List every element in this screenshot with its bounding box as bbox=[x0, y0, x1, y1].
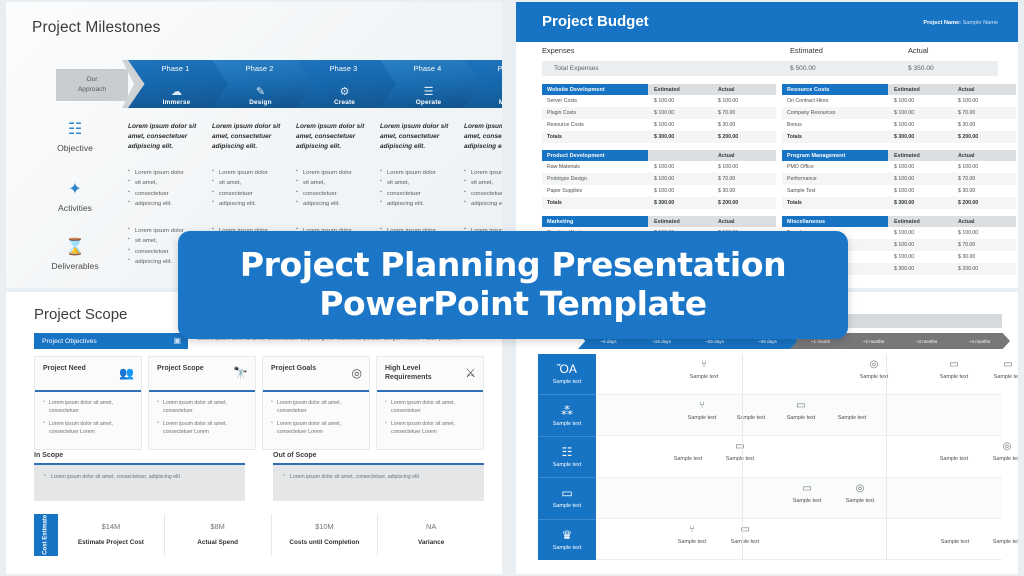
cell-item: Totals bbox=[542, 131, 648, 143]
list-item: Lorem ipsum dolor sit amet, consectetuer… bbox=[271, 420, 361, 437]
phase-chevron-row: Our Approach Phase 1 ☁ Immerse Phase 2 ✎… bbox=[56, 60, 488, 108]
budget-table-website-development[interactable]: Website DevelopmentEstimatedActualServer… bbox=[542, 84, 776, 143]
laptop-icon: ▭ bbox=[717, 525, 773, 535]
phase-name: Create bbox=[296, 99, 393, 106]
table-row: Performance$ 100.00$ 70.00 bbox=[782, 173, 1016, 185]
roadmap-cell-label: Sample text bbox=[846, 374, 902, 380]
cell-item: PMO Office bbox=[782, 161, 888, 173]
list-item: consectetuer bbox=[128, 189, 200, 199]
scope-card-project-goals[interactable]: Project Goals ◎ Lorem ipsum dolor sit am… bbox=[262, 356, 370, 450]
roadmap-cell-label: Sample text bbox=[660, 456, 716, 462]
cell-item: Performance bbox=[782, 173, 888, 185]
table-header-row: Program ManagementEstimatedActual bbox=[782, 150, 1016, 161]
table-row: Bonus$ 100.00$ 30.00 bbox=[782, 119, 1016, 131]
table-col-actual: Actual bbox=[952, 84, 1016, 95]
cell-actual: $ 70.00 bbox=[712, 107, 776, 119]
card-bullets: Lorem ipsum dolor sit amet, consectetuer… bbox=[35, 392, 141, 449]
cell-item: Totals bbox=[782, 131, 888, 143]
roadmap-sidebar-label: Sample text bbox=[553, 379, 581, 385]
flowchart-icon: ⑂ bbox=[676, 360, 732, 370]
table-category-label: Miscellaneous bbox=[782, 216, 888, 227]
cost-tag-line-1: Cost bbox=[42, 542, 48, 555]
roadmap-cell-label: Sample text bbox=[717, 539, 773, 545]
approach-line-1: Our bbox=[87, 75, 98, 85]
table-header-row: Website DevelopmentEstimatedActual bbox=[542, 84, 776, 95]
target-icon: ◎ bbox=[846, 360, 902, 370]
page-title: Project Scope bbox=[34, 306, 127, 323]
roadmap-cell-label: Sample text bbox=[779, 498, 835, 504]
row-label-deliverables: ⌛ Deliverables bbox=[44, 240, 106, 271]
table-header-row: Resource CostsEstimatedActual bbox=[782, 84, 1016, 95]
cell-estimated: $ 100.00 bbox=[888, 239, 952, 251]
activities-bullets: Lorem ipsum dolorsit amet,consectetuerad… bbox=[464, 168, 502, 209]
roadmap-cell-label: Sample text bbox=[926, 374, 982, 380]
cell-estimated: $ 100.00 bbox=[888, 173, 952, 185]
cell-estimated: $ 100.00 bbox=[648, 173, 712, 185]
out-of-scope-heading: Out of Scope bbox=[273, 452, 484, 463]
cell-actual: $ 70.00 bbox=[712, 173, 776, 185]
table-col-actual: Actual bbox=[712, 150, 776, 161]
card-title: Project Need bbox=[43, 364, 106, 373]
total-label: Total Expenses bbox=[554, 65, 599, 72]
list-item: Lorem ipsum dolor bbox=[212, 168, 284, 178]
table-col-actual: Actual bbox=[952, 150, 1016, 161]
total-actual: $ 350.00 bbox=[908, 65, 934, 72]
project-name-value: Sample Name bbox=[963, 20, 998, 26]
phase-label: Phase 4 bbox=[380, 64, 475, 73]
hourglass-icon: ⌛ bbox=[44, 240, 106, 256]
roadmap-cell[interactable]: ▭Sample text bbox=[712, 442, 768, 462]
bar-chart-icon: ὌA bbox=[557, 363, 577, 375]
roadmap-row: ⑂Sample text▭Sample textSample textSampl… bbox=[596, 519, 1002, 560]
cost-estimate-tag: Cost Estimate bbox=[34, 514, 58, 556]
objective-text: Lorem ipsum dolor sit amet, consectetuer… bbox=[212, 122, 284, 151]
cell-estimated: $ 100.00 bbox=[648, 95, 712, 107]
table-header-row: Product DevelopmentActual bbox=[542, 150, 776, 161]
roadmap-cell[interactable]: Sample text bbox=[723, 411, 779, 421]
roadmap-column-separator bbox=[742, 354, 743, 560]
cell-item: On Contract Hires bbox=[782, 95, 888, 107]
cell-actual: $ 200.00 bbox=[952, 131, 1016, 143]
roadmap-cell-label: Sample text bbox=[824, 415, 880, 421]
objective-text: Lorem ipsum dolor sit amet, consectetuer… bbox=[464, 122, 502, 151]
list-item: Lorem ipsum dolor bbox=[128, 168, 200, 178]
in-scope-heading: In Scope bbox=[34, 452, 245, 463]
table-row: Plugin Costs$ 100.00$ 70.00 bbox=[542, 107, 776, 119]
table-header-row: MarketingEstimatedActual bbox=[542, 216, 776, 227]
cell-actual: $ 100.00 bbox=[952, 161, 1016, 173]
cell-actual: $ 100.00 bbox=[952, 227, 1016, 239]
cell-estimated: $ 100.00 bbox=[648, 107, 712, 119]
in-scope-block: In Scope Lorem ipsum dolor sit amet, con… bbox=[34, 452, 245, 501]
list-item: consectetuer bbox=[212, 189, 284, 199]
cell-actual: $ 70.00 bbox=[952, 107, 1016, 119]
cell-item: Prototype Design bbox=[542, 173, 648, 185]
cell-item: Bonus bbox=[782, 119, 888, 131]
project-name-field: Project Name: Sample Name bbox=[923, 20, 998, 26]
card-title: Project Scope bbox=[157, 364, 220, 373]
cost-item-costs-until-completion: $10M Costs until Completion bbox=[271, 514, 378, 556]
cost-label: Costs until Completion bbox=[272, 539, 378, 546]
laptop-icon: ▭ bbox=[712, 442, 768, 452]
table-category-label: Marketing bbox=[542, 216, 648, 227]
list-item: sit amet, bbox=[128, 178, 200, 188]
list-item: consectetuer bbox=[464, 189, 502, 199]
cost-estimate-bar: Cost Estimate $14M Estimate Project Cost… bbox=[34, 514, 484, 556]
phase-name: Immerse bbox=[128, 99, 225, 106]
cell-actual: $ 30.00 bbox=[712, 119, 776, 131]
cell-estimated: $ 100.00 bbox=[888, 227, 952, 239]
cell-actual: $ 200.00 bbox=[712, 131, 776, 143]
table-col-actual: Actual bbox=[712, 84, 776, 95]
scope-split-row: In Scope Lorem ipsum dolor sit amet, con… bbox=[34, 452, 484, 501]
table-row: Server Costs$ 100.00$ 100.00 bbox=[542, 95, 776, 107]
list-item: consectetuer bbox=[380, 189, 452, 199]
phase-label: Phase 3 bbox=[296, 64, 391, 73]
table-row: Sample Text$ 100.00$ 30.00 bbox=[782, 185, 1016, 197]
roadmap-sidebar-label: Sample text bbox=[553, 462, 581, 468]
table-row: Totals$ 300.00$ 200.00 bbox=[542, 131, 776, 143]
people-cloud-icon: ☁ bbox=[128, 87, 225, 98]
analytics-icon: ☷ bbox=[562, 446, 573, 458]
cell-actual: $ 100.00 bbox=[712, 161, 776, 173]
budget-header-bar: Project Budget Project Name: Sample Name bbox=[516, 2, 1018, 42]
budget-table-program-management[interactable]: Program ManagementEstimatedActualPMO Off… bbox=[782, 150, 1016, 209]
waveform-icon: ☰ bbox=[380, 87, 477, 98]
phase-name: Operate bbox=[380, 99, 477, 106]
monitor-icon: ▣ bbox=[173, 336, 181, 345]
table-row: Totals$ 300.00$ 200.00 bbox=[542, 197, 776, 209]
pen-design-icon: ✎ bbox=[212, 87, 309, 98]
roadmap-cell[interactable]: Sample text bbox=[824, 411, 880, 421]
roadmap-sidebar-label: Sample text bbox=[553, 421, 581, 427]
list-item: sit amet, bbox=[296, 178, 368, 188]
laptop-icon: ▭ bbox=[779, 484, 835, 494]
star-burst-icon: ✦ bbox=[44, 182, 106, 198]
out-of-scope-block: Out of Scope Lorem ipsum dolor sit amet,… bbox=[273, 452, 484, 501]
list-item: adipiscing elit. bbox=[296, 199, 368, 209]
phase-name: Design bbox=[212, 99, 309, 106]
scope-card-row: Project Need 👥 Lorem ipsum dolor sit ame… bbox=[34, 356, 484, 450]
list-item: Lorem ipsum dolor bbox=[296, 168, 368, 178]
table-row: On Contract Hires$ 100.00$ 100.00 bbox=[782, 95, 1016, 107]
timeline-chevron[interactable]: ~2 months bbox=[843, 333, 904, 349]
roadmap-cell[interactable]: ⑂Sample text bbox=[676, 360, 732, 380]
roadmap-cell-label: Sample text bbox=[980, 374, 1018, 380]
cell-item: Server Costs bbox=[542, 95, 648, 107]
out-of-scope-bullet: Lorem ipsum dolor sit amet, consectetuer… bbox=[283, 474, 474, 480]
col-actual: Actual bbox=[908, 46, 929, 55]
roadmap-cell-label: Sample text bbox=[674, 415, 730, 421]
table-col-estimated: Estimated bbox=[648, 216, 712, 227]
cell-actual: $ 30.00 bbox=[952, 185, 1016, 197]
roadmap-sidebar-label: Sample text bbox=[553, 545, 581, 551]
table-row: Resource Costs$ 100.00$ 30.00 bbox=[542, 119, 776, 131]
roadmap-row: ⑂Sample textSample text▭Sample textSampl… bbox=[596, 395, 1002, 436]
scope-card-high-level-requirements[interactable]: High Level Requirements ⚔ Lorem ipsum do… bbox=[376, 356, 484, 450]
cell-estimated: $ 100.00 bbox=[888, 119, 952, 131]
cell-estimated: $ 100.00 bbox=[888, 107, 952, 119]
cell-estimated: $ 100.00 bbox=[648, 185, 712, 197]
cost-value: $10M bbox=[272, 522, 378, 531]
table-row: Raw Materials$ 100.00$ 100.00 bbox=[542, 161, 776, 173]
roadmap-row: Sample text▭Sample textSample text◎Sampl… bbox=[596, 436, 1002, 477]
roadmap-sidebar: ὌASample text⁂Sample text☷Sample text▭Sa… bbox=[538, 354, 596, 560]
approach-line-2: Approach bbox=[78, 85, 106, 95]
card-bullets: Lorem ipsum dolor sit amet, consectetuer… bbox=[263, 392, 369, 449]
roadmap-cell[interactable]: Sample text bbox=[979, 535, 1018, 545]
col-expenses: Expenses bbox=[542, 46, 574, 55]
cell-estimated: $ 300.00 bbox=[888, 263, 952, 275]
roadmap-cell-label: Sample text bbox=[664, 539, 720, 545]
list-item: Lorem ipsum dolor sit amet, consectetuer… bbox=[43, 420, 133, 437]
roadmap-cell[interactable]: Sample text bbox=[926, 452, 982, 462]
cost-item-actual-spend: $8M Actual Spend bbox=[164, 514, 271, 556]
list-item: consectetuer bbox=[296, 189, 368, 199]
row-label-objective: ☷ Objective bbox=[44, 122, 106, 153]
roadmap-row: ▭Sample text◎Sample text bbox=[596, 478, 1002, 519]
table-header-row: MiscellaneousEstimatedActual bbox=[782, 216, 1016, 227]
roadmap-cell-label: Sample text bbox=[979, 539, 1018, 545]
list-item: Lorem ipsum dolor sit amet, consectetuer bbox=[271, 399, 361, 416]
flowchart-icon: ⑂ bbox=[674, 401, 730, 411]
roadmap-cell[interactable]: ▭Sample text bbox=[717, 525, 773, 545]
roadmap-sidebar-item-0[interactable]: ὌASample text bbox=[538, 354, 596, 395]
roadmap-cell[interactable]: ⑂Sample text bbox=[674, 401, 730, 421]
team-icon: 👥 bbox=[119, 366, 134, 380]
cell-estimated: $ 300.00 bbox=[648, 131, 712, 143]
cell-item: Totals bbox=[542, 197, 648, 209]
table-col-actual: Actual bbox=[712, 216, 776, 227]
table-row: PMO Office$ 100.00$ 100.00 bbox=[782, 161, 1016, 173]
banner-line-1: Project Planning Presentation bbox=[240, 246, 786, 285]
our-approach-box: Our Approach bbox=[56, 69, 128, 101]
cell-actual: $ 30.00 bbox=[952, 251, 1016, 263]
roadmap-cell-label: Sample text bbox=[676, 374, 732, 380]
total-expenses-row: Total Expenses $ 500.00 $ 350.00 bbox=[542, 61, 998, 76]
roadmap-cell-label: Sample text bbox=[926, 456, 982, 462]
cost-value: $8M bbox=[165, 522, 271, 531]
table-category-label: Product Development bbox=[542, 150, 648, 161]
list-item: Lorem ipsum dolor sit amet, consectetuer… bbox=[385, 420, 475, 437]
cell-estimated: $ 300.00 bbox=[648, 197, 712, 209]
cell-estimated: $ 300.00 bbox=[888, 197, 952, 209]
card-title: High Level Requirements bbox=[385, 364, 448, 383]
activities-bullets: Lorem ipsum dolorsit amet,consectetuerad… bbox=[296, 168, 368, 209]
roadmap-sidebar-item-2[interactable]: ☷Sample text bbox=[538, 437, 596, 478]
page-title: Project Milestones bbox=[32, 19, 160, 37]
list-item: Lorem ipsum dolor bbox=[464, 168, 502, 178]
table-col-estimated: Estimated bbox=[888, 216, 952, 227]
cell-actual: $ 100.00 bbox=[712, 95, 776, 107]
table-row: Totals$ 300.00$ 200.00 bbox=[782, 197, 1016, 209]
cell-estimated: $ 100.00 bbox=[888, 251, 952, 263]
roadmap-cell-label: Sample text bbox=[773, 415, 829, 421]
cell-item: Plugin Costs bbox=[542, 107, 648, 119]
budget-table-product-development[interactable]: Product DevelopmentActualRaw Materials$ … bbox=[542, 150, 776, 209]
cell-actual: $ 200.00 bbox=[952, 263, 1016, 275]
roadmap-grid: ⑂Sample text◎Sample text▭Sample text▭Sam… bbox=[596, 354, 1002, 560]
cell-estimated: $ 300.00 bbox=[888, 131, 952, 143]
cell-actual: $ 30.00 bbox=[712, 185, 776, 197]
timeline-chevron[interactable]: ~3 months bbox=[896, 333, 957, 349]
roadmap-cell[interactable]: ⑂Sample text bbox=[664, 525, 720, 545]
roadmap-cell[interactable]: ▭Sample text bbox=[779, 484, 835, 504]
scope-card-project-scope[interactable]: Project Scope 🔭 Lorem ipsum dolor sit am… bbox=[148, 356, 256, 450]
cost-label: Variance bbox=[378, 539, 484, 546]
list-item: adipiscing elit. bbox=[128, 199, 200, 209]
target-icon: ◎ bbox=[979, 442, 1018, 452]
roadmap-sidebar-item-4[interactable]: ♛Sample text bbox=[538, 520, 596, 560]
cell-actual: $ 30.00 bbox=[952, 119, 1016, 131]
activities-bullets: Lorem ipsum dolorsit amet,consectetuerad… bbox=[128, 168, 200, 209]
roadmap-cell[interactable]: ◎Sample text bbox=[832, 484, 888, 504]
laptop-icon: ▭ bbox=[980, 360, 1018, 370]
project-name-label: Project Name: bbox=[923, 20, 961, 26]
cell-estimated: $ 100.00 bbox=[648, 119, 712, 131]
scope-card-project-need[interactable]: Project Need 👥 Lorem ipsum dolor sit ame… bbox=[34, 356, 142, 450]
roadmap-cell[interactable]: ◎Sample text bbox=[846, 360, 902, 380]
row-label-activities: ✦ Activities bbox=[44, 182, 106, 213]
card-title: Project Goals bbox=[271, 364, 334, 373]
cost-tag-line-2: Estimate bbox=[42, 515, 48, 540]
cost-value: $14M bbox=[58, 522, 164, 531]
list-item: Lorem ipsum dolor sit amet, consectetuer bbox=[157, 399, 247, 416]
cell-actual: $ 100.00 bbox=[952, 95, 1016, 107]
cell-item: Resource Costs bbox=[542, 119, 648, 131]
cost-value: NA bbox=[378, 522, 484, 531]
roadmap-cell[interactable]: ▭Sample text bbox=[926, 360, 982, 380]
cell-estimated: $ 100.00 bbox=[648, 161, 712, 173]
budget-table-resource-costs[interactable]: Resource CostsEstimatedActualOn Contract… bbox=[782, 84, 1016, 143]
table-col-estimated bbox=[648, 150, 712, 161]
cell-actual: $ 70.00 bbox=[952, 239, 1016, 251]
cell-actual: $ 200.00 bbox=[712, 197, 776, 209]
timeline-chevron[interactable]: ~4 months bbox=[949, 333, 1010, 349]
cell-item: Paper Supplies bbox=[542, 185, 648, 197]
roadmap-sidebar-item-3[interactable]: ▭Sample text bbox=[538, 478, 596, 519]
banner-line-2: PowerPoint Template bbox=[319, 285, 707, 324]
table-col-estimated: Estimated bbox=[888, 84, 952, 95]
activities-bullets: Lorem ipsum dolorsit amet,consectetuerad… bbox=[212, 168, 284, 209]
list-item: Lorem ipsum dolor sit amet, consectetuer… bbox=[157, 420, 247, 437]
table-category-label: Resource Costs bbox=[782, 84, 888, 95]
trophy-icon: ♛ bbox=[562, 529, 573, 541]
project-objectives-label: Project Objectives bbox=[42, 338, 97, 345]
list-item: sit amet, bbox=[464, 178, 502, 188]
table-col-estimated: Estimated bbox=[648, 84, 712, 95]
cell-item: Sample Text bbox=[782, 185, 888, 197]
cost-label: Actual Spend bbox=[165, 539, 271, 546]
cell-item: Company Resources bbox=[782, 107, 888, 119]
roadmap-cell[interactable]: ◎Sample text bbox=[979, 442, 1018, 462]
roadmap-column-separator bbox=[886, 354, 887, 560]
roadmap-sidebar-item-1[interactable]: ⁂Sample text bbox=[538, 395, 596, 436]
list-item: adipiscing elit. bbox=[212, 199, 284, 209]
presentation-preview-canvas: Project Milestones Our Approach Phase 1 … bbox=[0, 0, 1024, 576]
list-item: adipiscing elit. bbox=[380, 199, 452, 209]
cell-item: Raw Materials bbox=[542, 161, 648, 173]
card-bullets: Lorem ipsum dolor sit amet, consectetuer… bbox=[377, 392, 483, 449]
roadmap-cell-label: Sample text bbox=[979, 456, 1018, 462]
table-col-actual: Actual bbox=[952, 216, 1016, 227]
card-bullets: Lorem ipsum dolor sit amet, consectetuer… bbox=[149, 392, 255, 449]
list-item: sit amet, bbox=[212, 178, 284, 188]
roadmap-cell-label: Sample text bbox=[712, 456, 768, 462]
list-item: Lorem ipsum dolor sit amet, consectetuer bbox=[43, 399, 133, 416]
table-row: Totals$ 300.00$ 200.00 bbox=[782, 131, 1016, 143]
phase-label: Phase 1 bbox=[128, 64, 223, 73]
table-row: Prototype Design$ 100.00$ 70.00 bbox=[542, 173, 776, 185]
list-item: adipiscing elit. bbox=[464, 199, 502, 209]
cell-actual: $ 200.00 bbox=[952, 197, 1016, 209]
cell-item: Totals bbox=[782, 197, 888, 209]
roadmap-cell-label: Sample text bbox=[723, 415, 779, 421]
cell-estimated: $ 100.00 bbox=[888, 95, 952, 107]
col-estimated: Estimated bbox=[790, 46, 823, 55]
list-item: Lorem ipsum dolor sit amet, consectetuer bbox=[385, 399, 475, 416]
objective-text: Lorem ipsum dolor sit amet, consectetuer… bbox=[380, 122, 452, 151]
roadmap-cell[interactable]: ▭Sample text bbox=[773, 401, 829, 421]
in-scope-bullet: Lorem ipsum dolor sit amet, consectetuer… bbox=[44, 474, 235, 480]
phase-label: Phase 2 bbox=[212, 64, 307, 73]
roadmap-cell[interactable]: Sample text bbox=[660, 452, 716, 462]
tools-icon: ⚔ bbox=[465, 366, 476, 380]
telescope-icon: 🔭 bbox=[233, 366, 248, 380]
activities-bullets: Lorem ipsum dolorsit amet,consectetuerad… bbox=[380, 168, 452, 209]
total-estimated: $ 500.00 bbox=[790, 65, 816, 72]
target-icon: ◎ bbox=[832, 484, 888, 494]
project-objectives-bar[interactable]: Project Objectives ▣ bbox=[34, 333, 188, 349]
table-col-estimated: Estimated bbox=[888, 150, 952, 161]
gears-icon: ⚙ bbox=[296, 87, 393, 98]
roadmap-sidebar-label: Sample text bbox=[553, 503, 581, 509]
cell-estimated: $ 100.00 bbox=[888, 161, 952, 173]
flowchart-icon: ⑂ bbox=[664, 525, 720, 535]
expenses-column-headers: Expenses Estimated Actual bbox=[542, 46, 998, 60]
roadmap-cell-label: Sample text bbox=[832, 498, 888, 504]
list-item: sit amet, bbox=[380, 178, 452, 188]
roadmap-row: ⑂Sample text◎Sample text▭Sample text▭Sam… bbox=[596, 354, 1002, 395]
objective-text: Lorem ipsum dolor sit amet, consectetuer… bbox=[128, 122, 200, 151]
title-banner: Project Planning Presentation PowerPoint… bbox=[178, 231, 848, 339]
cost-item-variance: NA Variance bbox=[377, 514, 484, 556]
objective-text: Lorem ipsum dolor sit amet, consectetuer… bbox=[296, 122, 368, 151]
list-item: Lorem ipsum dolor bbox=[380, 168, 452, 178]
briefcase-icon: ▭ bbox=[561, 487, 572, 499]
cell-actual: $ 70.00 bbox=[952, 173, 1016, 185]
list-document-icon: ☷ bbox=[44, 122, 106, 138]
target-icon: ◎ bbox=[352, 366, 362, 380]
laptop-icon: ▭ bbox=[926, 360, 982, 370]
binoculars-icon: ⁂ bbox=[561, 405, 573, 417]
roadmap-cell[interactable]: ▭Sample text bbox=[980, 360, 1018, 380]
cost-label: Estimate Project Cost bbox=[58, 539, 164, 546]
roadmap-cell-label: Sample text bbox=[927, 539, 983, 545]
table-category-label: Website Development bbox=[542, 84, 648, 95]
table-category-label: Program Management bbox=[782, 150, 888, 161]
laptop-icon: ▭ bbox=[773, 401, 829, 411]
cost-item-estimate-project-cost: $14M Estimate Project Cost bbox=[58, 514, 164, 556]
table-row: Paper Supplies$ 100.00$ 30.00 bbox=[542, 185, 776, 197]
roadmap-cell[interactable]: Sample text bbox=[927, 535, 983, 545]
page-title: Project Budget bbox=[542, 13, 649, 30]
table-row: Company Resources$ 100.00$ 70.00 bbox=[782, 107, 1016, 119]
cell-estimated: $ 100.00 bbox=[888, 185, 952, 197]
